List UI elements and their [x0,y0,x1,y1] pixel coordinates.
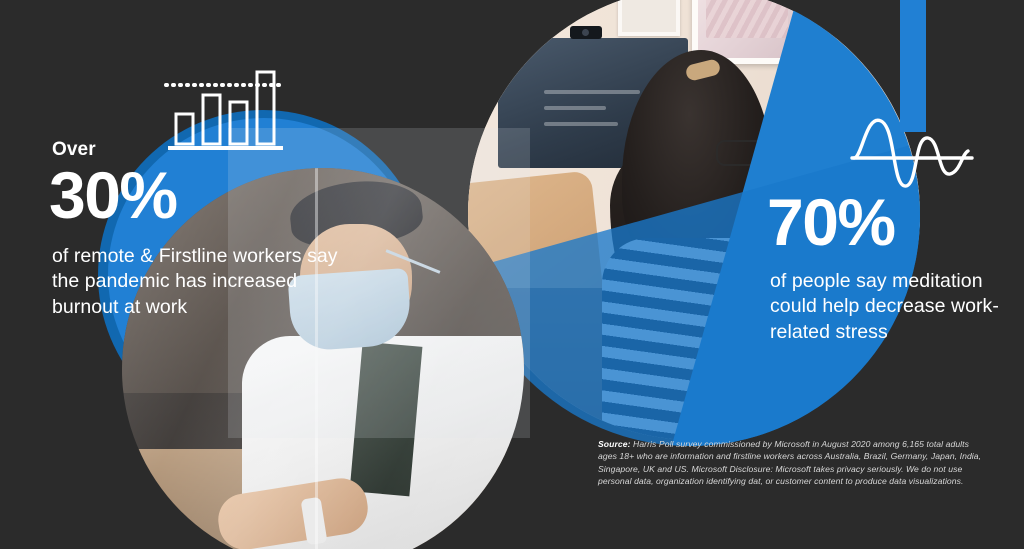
blue-accent-sliver [900,0,926,132]
infographic-canvas: Over 30% of remote & Firstline workers s… [0,0,1024,549]
stat-right-block: 70% of people say meditation could help … [770,190,1020,345]
stat-left-value: 30% [49,163,352,228]
stat-left-description: of remote & Firstline workers say the pa… [52,244,352,321]
source-label: Source: [598,439,631,449]
stat-right-value: 70% [767,190,1020,255]
stat-left-block: Over 30% of remote & Firstline workers s… [52,140,352,320]
sine-wave-icon [848,118,978,190]
bar-chart-icon [163,66,289,154]
source-footnote: Source: Harris Poll survey commissioned … [598,438,990,488]
stat-right-description: of people say meditation could help decr… [770,269,1020,346]
source-text: Harris Poll survey commissioned by Micro… [598,439,981,486]
